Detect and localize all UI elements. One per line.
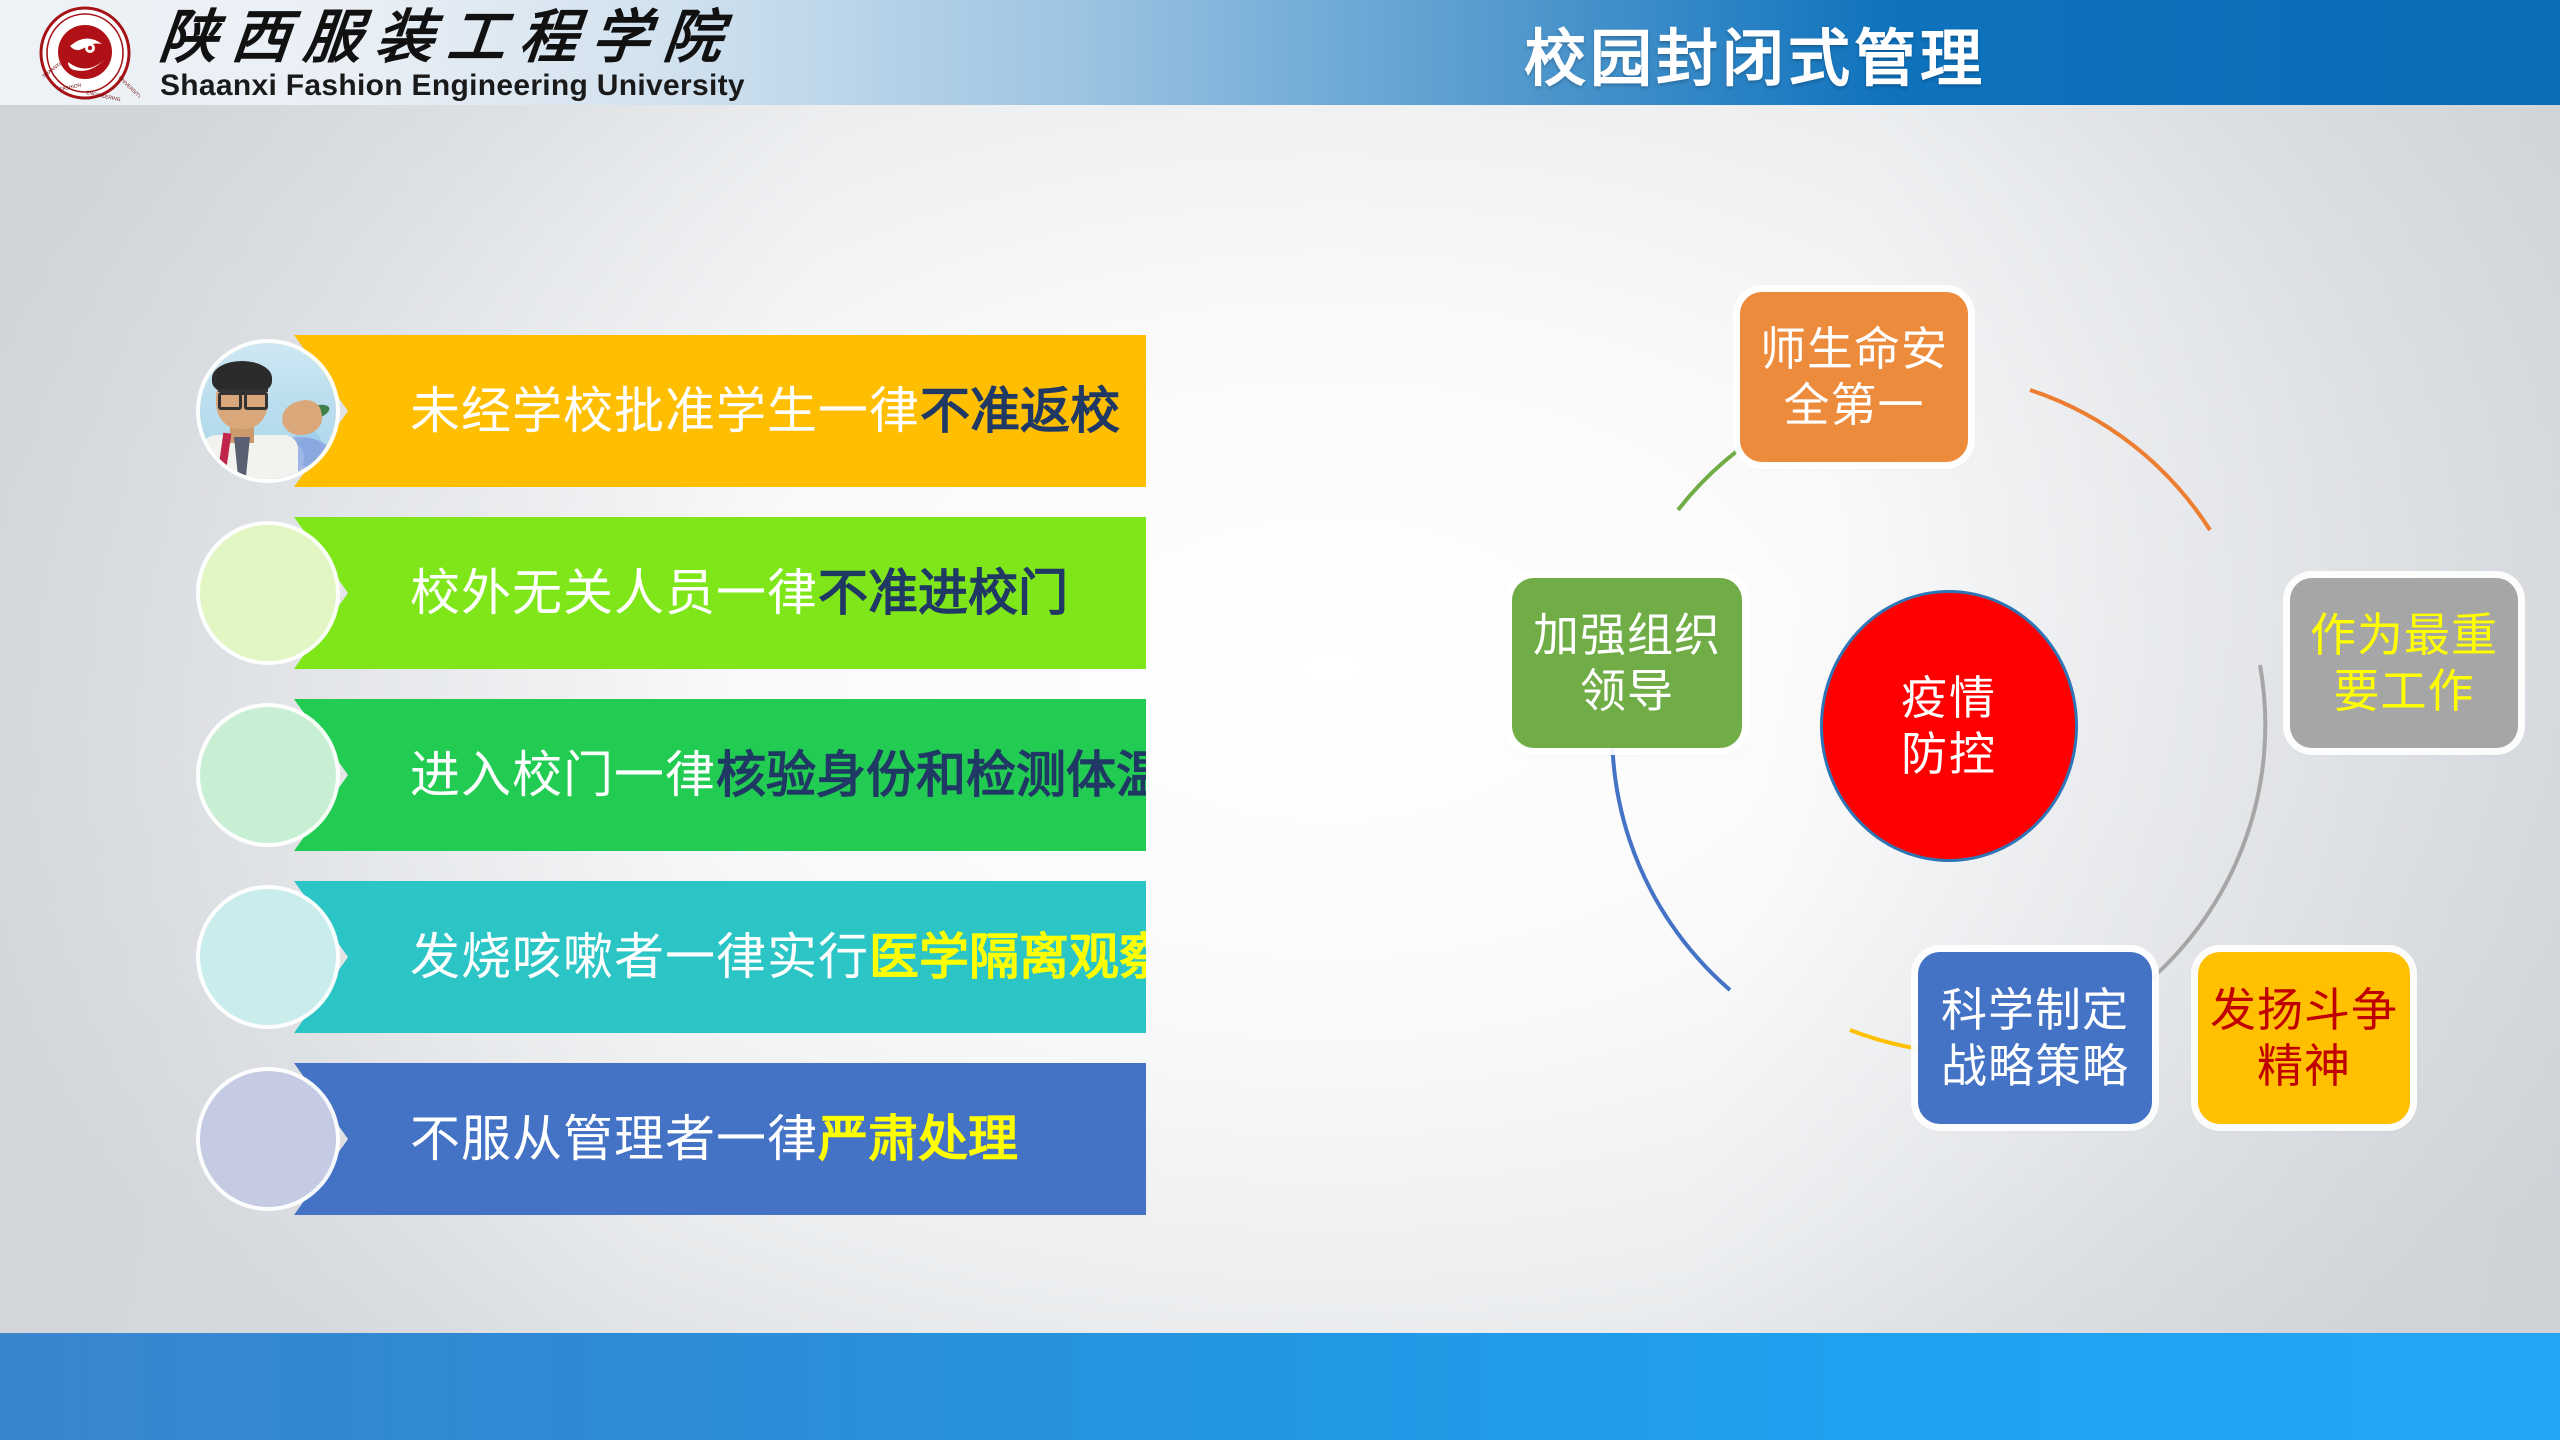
list-item[interactable]: 校外无关人员一律不准进校门 [200,517,1240,669]
rule-bar[interactable]: 校外无关人员一律不准进校门 [294,517,1146,669]
rule-bar[interactable]: 进入校门一律核验身份和检测体温 [294,699,1146,851]
page-title: 校园封闭式管理 [1400,0,2560,105]
bullet-circle-icon [200,525,336,661]
cycle-node-right-lower[interactable]: 发扬斗争 精神 [2198,952,2410,1124]
cycle-center-line2: 防控 [1901,726,1997,782]
slide-canvas: SHAANXI FASHION ENGINEERING UNIVERSITY 陕… [0,0,2560,1440]
cycle-node-top-line2: 全第一 [1760,377,1948,433]
bullet-circle-icon [200,889,336,1025]
university-wordmark: 陕西服装工程学院 Shaanxi Fashion Engineering Uni… [160,8,900,100]
cycle-node-right-upper-line2: 要工作 [2310,663,2498,719]
rule-emphasis: 医学隔离观察 [869,929,1169,985]
page-title-text: 校园封闭式管理 [1524,8,1986,98]
speaker-photo-avatar [200,343,336,479]
rule-bar[interactable]: 不服从管理者一律严肃处理 [294,1063,1146,1215]
rule-lead: 未经学校批准学生一律 [410,383,920,439]
list-item[interactable]: 未经学校批准学生一律不准返校 [200,335,1240,487]
rule-bar[interactable]: 未经学校批准学生一律不准返校 [294,335,1146,487]
cycle-center-node[interactable]: 疫情 防控 [1820,590,2078,862]
bullet-circle-icon [200,1071,336,1207]
university-seal-icon: SHAANXI FASHION ENGINEERING UNIVERSITY [30,6,140,101]
rule-emphasis: 不准返校 [920,383,1120,439]
rule-lead: 发烧咳嗽者一律实行 [410,929,869,985]
arc-gray [2150,665,2265,980]
cycle-center-line1: 疫情 [1901,670,1997,726]
rule-text: 发烧咳嗽者一律实行医学隔离观察 [294,931,1169,983]
slide-footer [0,1333,2560,1440]
cycle-node-left-lower-line2: 战略策略 [1941,1038,2129,1094]
list-item[interactable]: 不服从管理者一律严肃处理 [200,1063,1240,1215]
rule-emphasis: 严肃处理 [818,1111,1018,1167]
university-name-cn: 陕西服装工程学院 [157,8,903,68]
cycle-node-right-upper-line1: 作为最重 [2310,607,2498,663]
cycle-node-right-lower-line2: 精神 [2210,1038,2398,1094]
slide-header: SHAANXI FASHION ENGINEERING UNIVERSITY 陕… [0,0,2560,105]
bullet-circle-icon [200,707,336,843]
rule-text: 校外无关人员一律不准进校门 [294,567,1068,619]
rule-bar[interactable]: 发烧咳嗽者一律实行医学隔离观察 [294,881,1146,1033]
cycle-node-left-upper-line1: 加强组织 [1533,607,1721,663]
rule-emphasis: 不准进校门 [818,565,1068,621]
rule-emphasis: 核验身份和检测体温 [716,747,1166,803]
rule-text: 不服从管理者一律严肃处理 [294,1113,1018,1165]
avatar [200,343,336,479]
cycle-node-right-upper[interactable]: 作为最重 要工作 [2290,578,2518,748]
cycle-node-top-line1: 师生命安 [1760,321,1948,377]
rule-lead: 不服从管理者一律 [410,1111,818,1167]
rule-text: 进入校门一律核验身份和检测体温 [294,749,1166,801]
cycle-node-left-upper-line2: 领导 [1533,663,1721,719]
list-item[interactable]: 进入校门一律核验身份和检测体温 [200,699,1240,851]
arc-orange [2030,390,2210,530]
rules-list: 未经学校批准学生一律不准返校 校外无关人员一律不准进校门 [200,335,1240,1255]
cycle-node-top[interactable]: 师生命安 全第一 [1740,292,1968,462]
cycle-node-right-lower-line1: 发扬斗争 [2210,982,2398,1038]
cycle-node-left-upper[interactable]: 加强组织 领导 [1512,578,1742,748]
rule-lead: 进入校门一律 [410,747,716,803]
cycle-diagram: 师生命安 全第一 作为最重 要工作 发扬斗争 精神 科学制定 战略策略 [1330,260,2560,1260]
rule-lead: 校外无关人员一律 [410,565,818,621]
university-name-en: Shaanxi Fashion Engineering University [160,70,900,102]
rule-text: 未经学校批准学生一律不准返校 [294,385,1120,437]
cycle-node-left-lower[interactable]: 科学制定 战略策略 [1918,952,2152,1124]
list-item[interactable]: 发烧咳嗽者一律实行医学隔离观察 [200,881,1240,1033]
cycle-node-left-lower-line1: 科学制定 [1941,982,2129,1038]
